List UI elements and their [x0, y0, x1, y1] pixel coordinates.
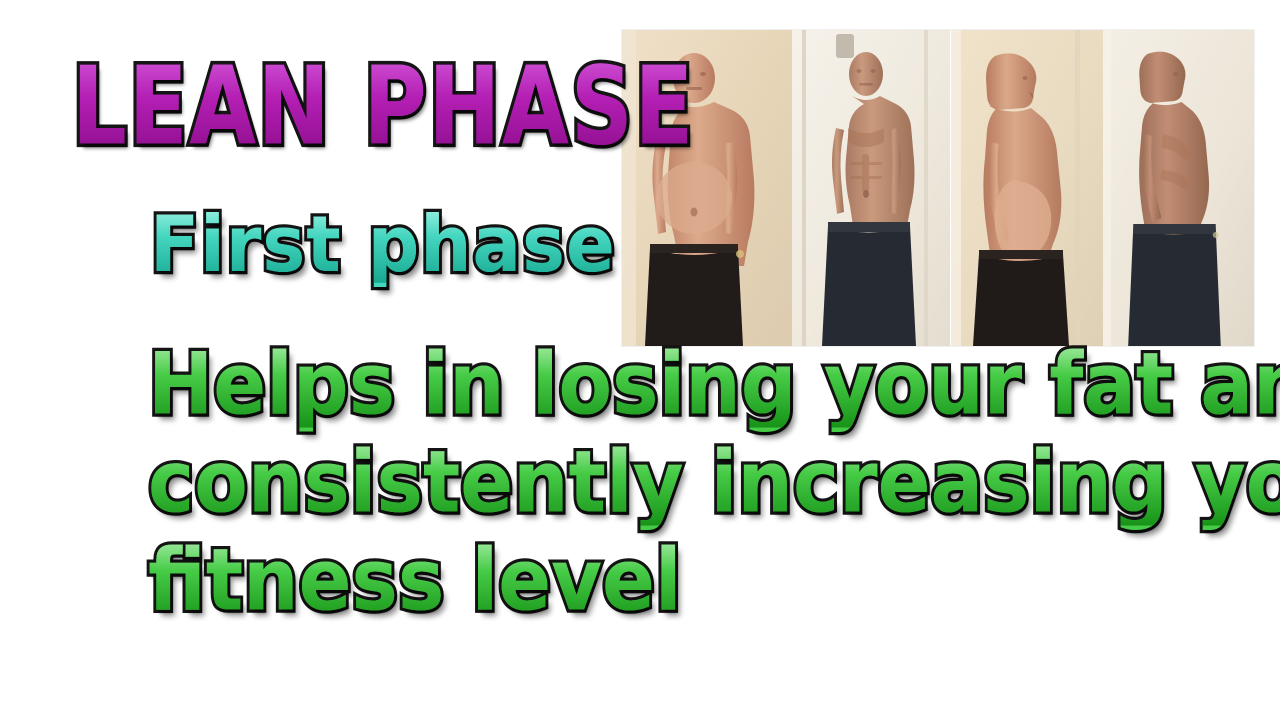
- slide-canvas: LEAN PHASE First phase Helps in losing y…: [0, 0, 1280, 720]
- body-text-line-1: Helps in losing your fat and: [148, 342, 1280, 428]
- photo-panel-after-front: [792, 30, 950, 346]
- page-title: LEAN PHASE: [72, 52, 695, 160]
- subtitle: First phase: [150, 205, 616, 283]
- photo-panel-after-side: [1103, 30, 1254, 346]
- body-text-line-3: fitness level: [148, 538, 682, 624]
- photo-panel-before-side: [951, 30, 1103, 346]
- transformation-photo: [622, 30, 1254, 346]
- body-text-line-2: consistently increasing your: [148, 440, 1280, 526]
